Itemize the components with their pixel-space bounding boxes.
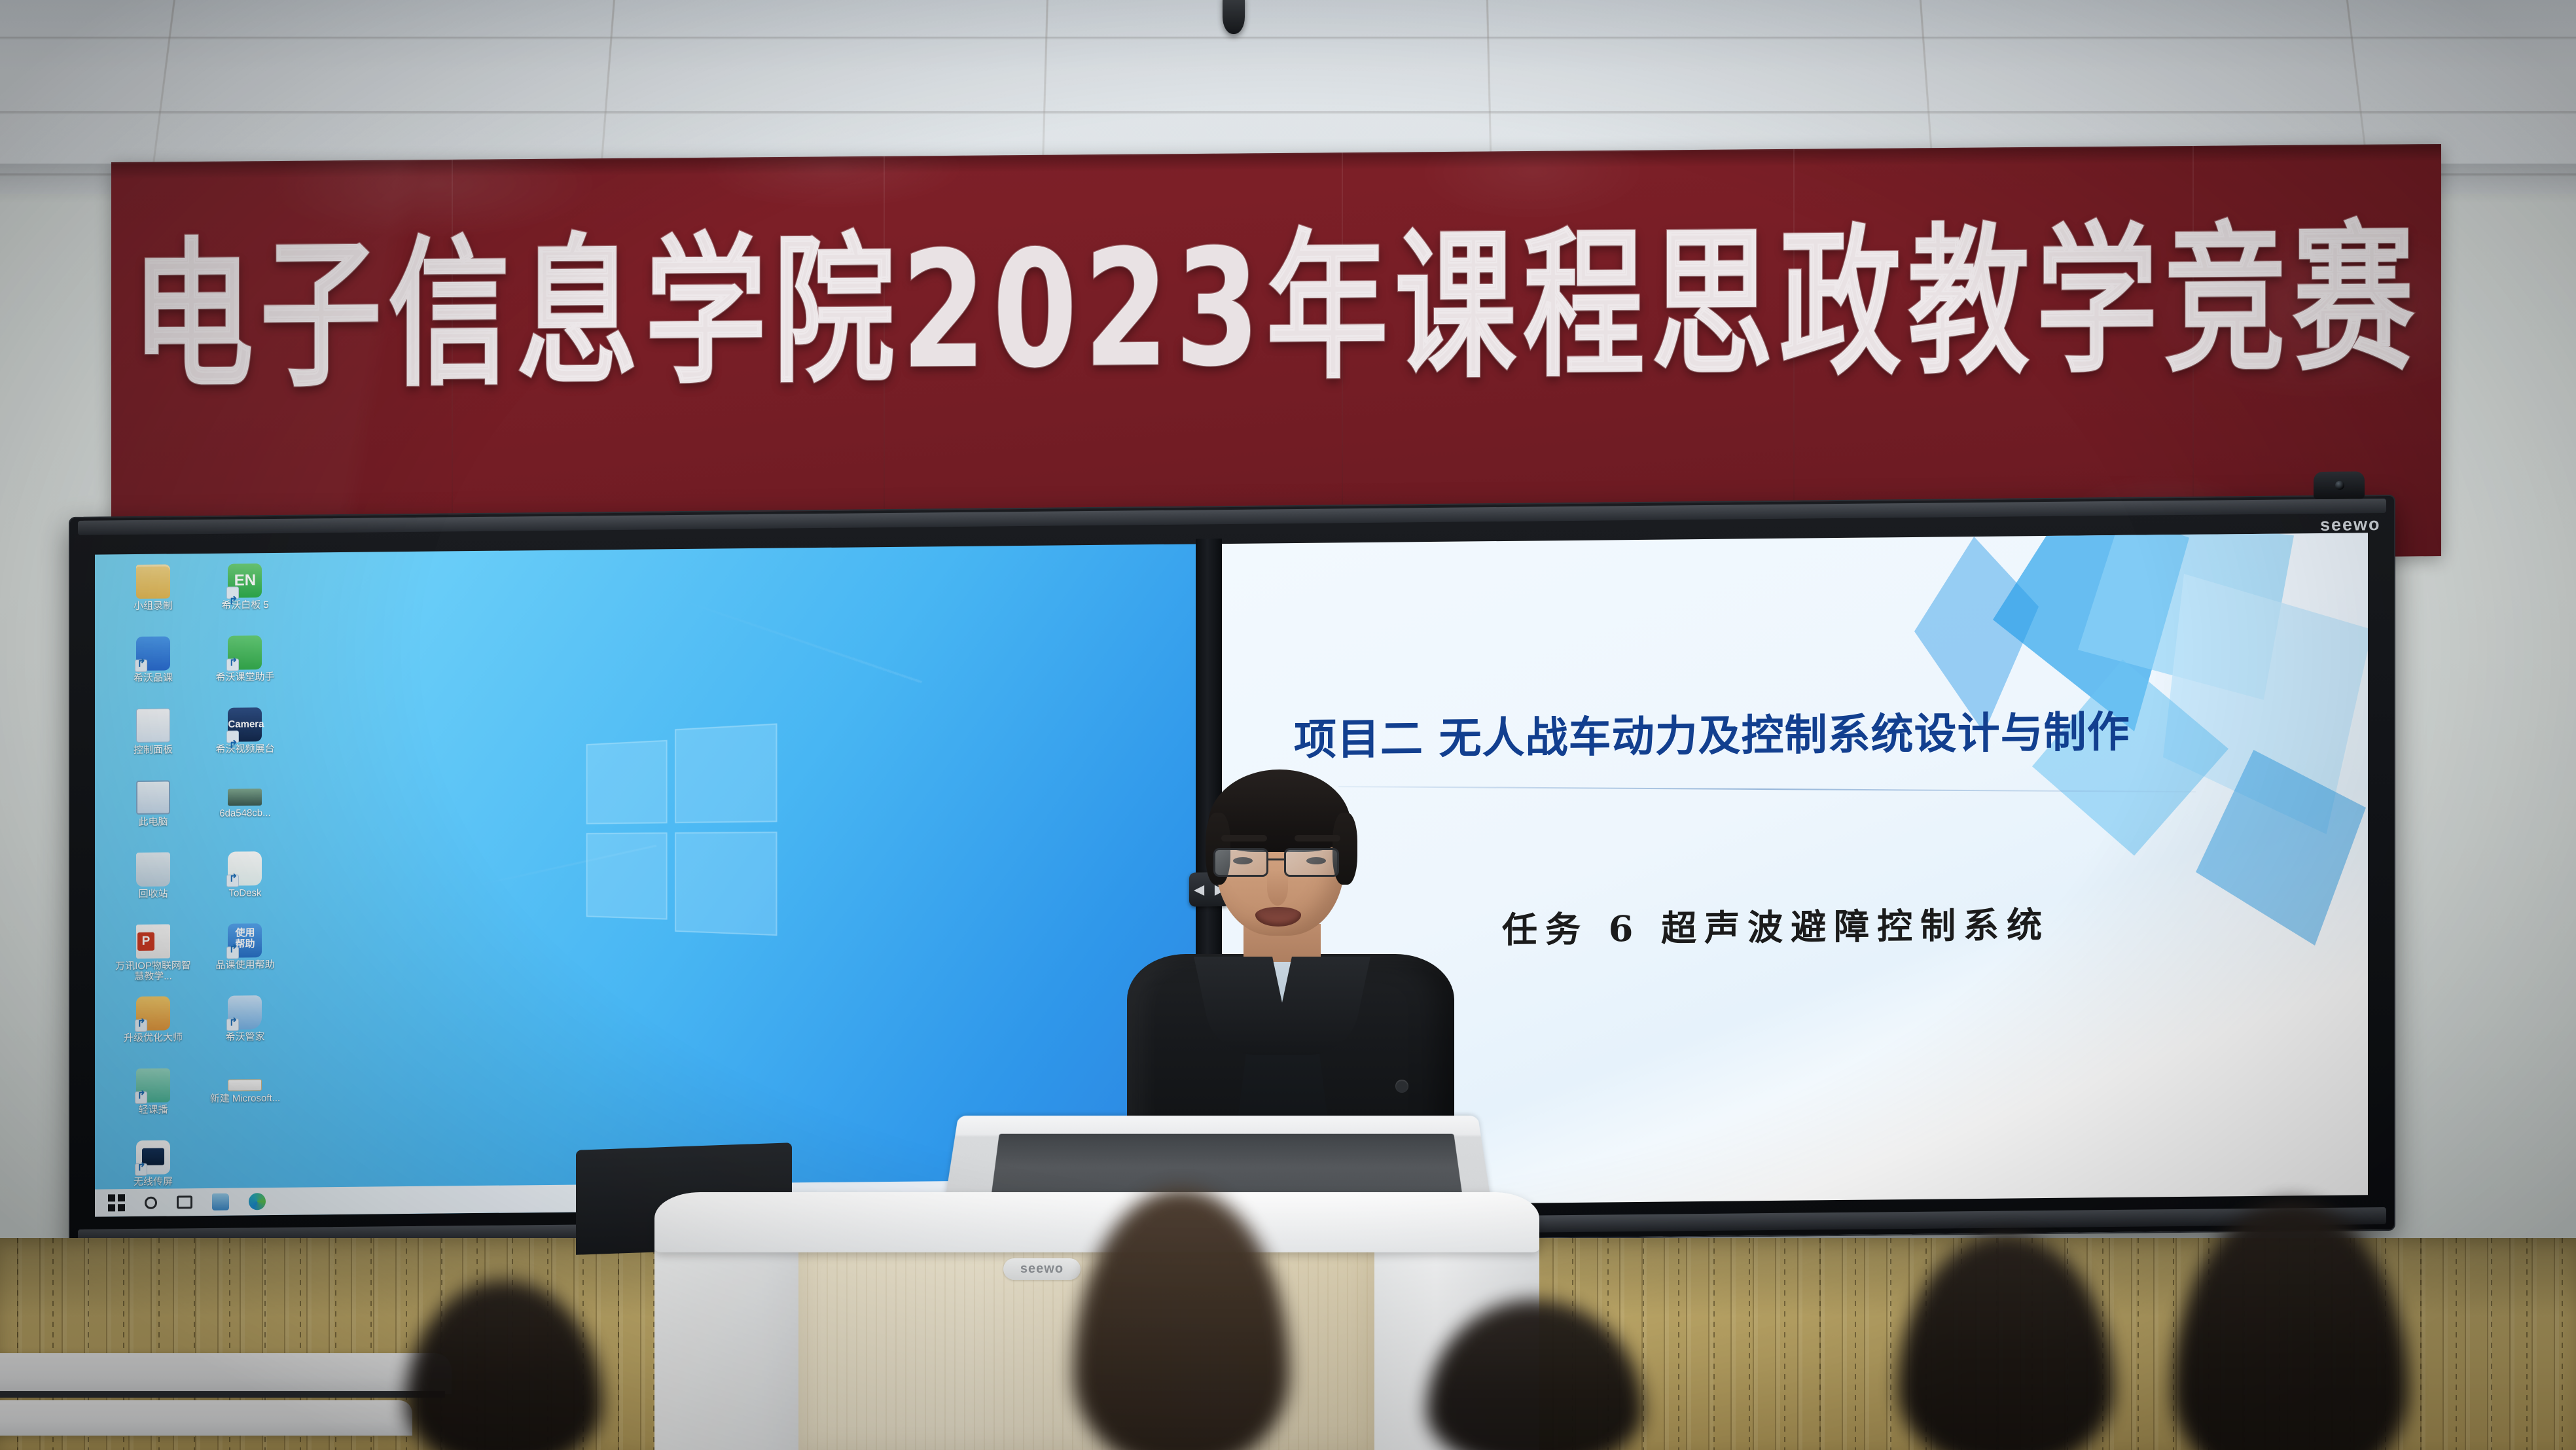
desktop-icon-wanxun-iop[interactable]: P 万讯IOP物联网智慧教学... — [111, 920, 196, 989]
desktop-icon-qingkebo[interactable]: 轻课播 — [111, 1064, 196, 1133]
presenter — [1113, 779, 1466, 1145]
desktop-icon-new-microsoft-doc[interactable]: 新建 Microsoft... — [202, 1063, 287, 1132]
desktop-icon-label: 回收站 — [111, 889, 196, 900]
edge-icon[interactable] — [249, 1193, 266, 1210]
desktop-icon-this-pc[interactable]: 此电脑 — [111, 776, 196, 845]
podium-side-left — [654, 1231, 806, 1450]
desktop-icon-label: 控制面板 — [111, 745, 196, 756]
desktop-icon-label: 小组录制 — [111, 601, 196, 612]
desktop-icon-grid[interactable]: 小组录制 EN 希沃白板 5 希沃品课 — [111, 559, 307, 1209]
desktop-icon-seewo-pinke[interactable]: 希沃品课 — [111, 632, 196, 701]
todesk-icon — [228, 851, 262, 885]
shortcut-overlay-icon — [135, 660, 147, 672]
shield-icon — [228, 995, 262, 1029]
shortcut-overlay-icon — [135, 1163, 147, 1176]
desktop-icon-label: 万讯IOP物联网智慧教学... — [111, 961, 196, 982]
desktop-icon-seewo-manager[interactable]: 希沃管家 — [202, 991, 287, 1060]
desktop-icon-label: 希沃管家 — [202, 1032, 287, 1043]
help-blue-icon: 使用帮助 — [228, 923, 262, 957]
blue-play-icon — [136, 637, 170, 671]
ceiling-camera-mount — [1223, 0, 1245, 34]
desktop-icon-control-panel[interactable]: 控制面板 — [111, 704, 196, 773]
search-icon[interactable] — [145, 1196, 157, 1209]
desktop-icon-label: 升级优化大师 — [111, 1033, 196, 1044]
desktop-icon-label: 希沃品课 — [111, 673, 196, 684]
shortcut-overlay-icon — [135, 1019, 147, 1032]
wireless-cast-icon — [136, 1141, 170, 1175]
shortcut-overlay-icon — [226, 658, 239, 671]
shortcut-overlay-icon — [226, 946, 239, 959]
desktop-icon-image-file[interactable]: 6da548cb... — [202, 775, 287, 844]
desktop-icon-label: 希沃视频展台 — [202, 744, 287, 755]
desktop-icon-label: 无线传屏 — [111, 1176, 196, 1188]
recycle-bin-icon — [136, 853, 170, 887]
desktop-icon-todesk[interactable]: ToDesk — [202, 847, 287, 916]
windows-logo-watermark-icon — [586, 723, 778, 928]
task-view-icon[interactable] — [177, 1195, 192, 1209]
presenter-jacket-button — [1395, 1080, 1408, 1093]
desktop-icon-upgrade-optimizer[interactable]: 升级优化大师 — [111, 992, 196, 1061]
presenter-eyebrow-left — [1221, 835, 1267, 841]
desktop-icon-pinke-help[interactable]: 使用帮助 品课使用帮助 — [202, 919, 287, 988]
slide-title: 项目二 无人战车动力及控制系统设计与制作 — [1294, 696, 2321, 767]
desktop-icon-label: 新建 Microsoft... — [202, 1093, 287, 1105]
desktop-icon-label: 6da548cb... — [202, 808, 287, 819]
desktop-icon-label: 品课使用帮助 — [202, 960, 287, 971]
powerpoint-file-icon: P — [136, 925, 170, 959]
desktop-icon-seewo-visualizer[interactable]: Camera 希沃视频展台 — [202, 703, 287, 772]
desk-left-edge — [0, 1391, 445, 1398]
desktop-icon-label: 此电脑 — [111, 817, 196, 828]
new-document-icon — [228, 1079, 262, 1091]
folder-icon — [136, 565, 170, 599]
image-file-icon — [228, 788, 262, 805]
shortcut-overlay-icon — [226, 1018, 239, 1031]
podium-top-surface — [654, 1192, 1539, 1252]
shortcut-overlay-icon — [226, 586, 239, 599]
desk-left-lower — [0, 1400, 412, 1436]
camera-icon: Camera — [228, 707, 262, 741]
desktop-icon-label: ToDesk — [202, 888, 287, 899]
podium-seewo-badge: seewo — [1003, 1258, 1081, 1280]
this-pc-icon — [136, 781, 170, 815]
desktop-icon-seewo-classroom-assistant[interactable]: 希沃课堂助手 — [202, 631, 287, 700]
desk-left — [0, 1353, 452, 1394]
file-explorer-icon[interactable] — [212, 1194, 229, 1211]
classroom-scene: 电子信息学院2023年课程思政教学竞赛 seewo 小组录制 — [0, 0, 2576, 1450]
presenter-eyebrow-right — [1295, 835, 1340, 841]
desktop-icon-label: 希沃课堂助手 — [202, 672, 287, 683]
shortcut-overlay-icon — [226, 874, 239, 887]
shortcut-overlay-icon — [135, 1091, 147, 1104]
video-teal-icon — [136, 1069, 170, 1103]
control-panel-icon — [136, 709, 170, 743]
desktop-icon-xiaozu-luzhi[interactable]: 小组录制 — [111, 560, 196, 629]
en-green-icon: EN — [228, 563, 262, 597]
banner-title: 电子信息学院2023年课程思政教学竞赛 — [111, 219, 2441, 397]
desktop-icon-seewo-whiteboard5[interactable]: EN 希沃白板 5 — [202, 559, 287, 628]
shortcut-overlay-icon — [226, 730, 239, 743]
desktop-icon-recycle-bin[interactable]: 回收站 — [111, 848, 196, 917]
seewo-brand-label: seewo — [2320, 514, 2381, 535]
panel-camera-icon — [2314, 471, 2365, 499]
optimizer-icon — [136, 997, 170, 1031]
desktop-icon-label: 希沃白板 5 — [202, 600, 287, 611]
windows-logo-icon[interactable] — [108, 1194, 125, 1211]
green-screen-icon — [228, 635, 262, 669]
presenter-nose — [1267, 870, 1288, 906]
desktop-icon-label: 轻课播 — [111, 1105, 196, 1116]
